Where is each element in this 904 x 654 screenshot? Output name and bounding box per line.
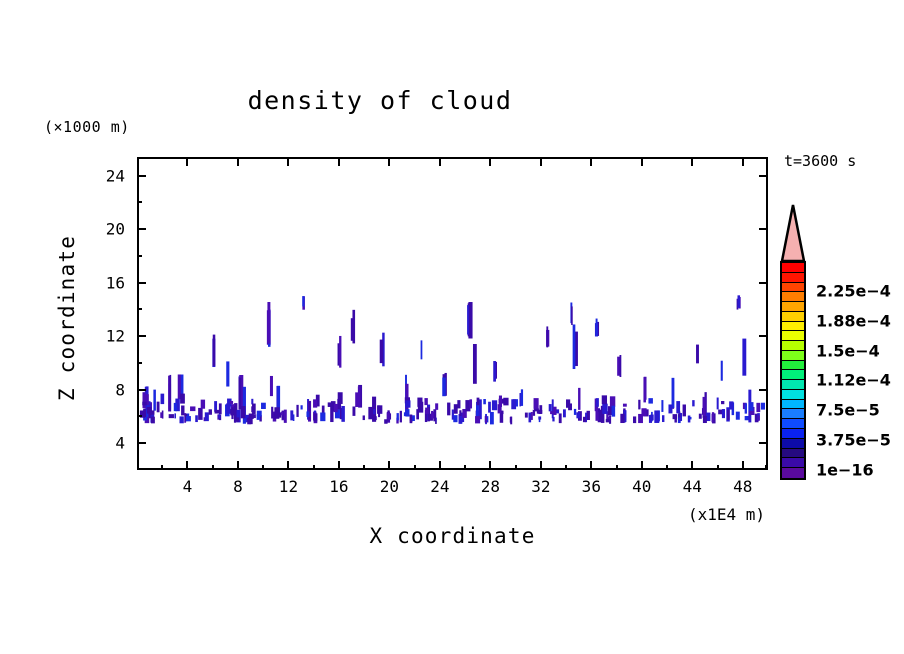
cloud-filament [235, 417, 239, 421]
cloud-filament [198, 408, 203, 420]
x-tick-major [691, 461, 693, 470]
cloud-filament [643, 377, 646, 402]
cloud-filament [717, 398, 719, 410]
cloud-filament [302, 296, 304, 306]
cloud-filament [703, 397, 706, 418]
x-tick-major-top [338, 157, 340, 166]
cloud-filament [674, 418, 676, 422]
cloud-filament [153, 390, 156, 411]
cloud-filament [209, 409, 212, 414]
cloud-filament [271, 407, 273, 419]
cloud-filament [230, 409, 235, 415]
cloud-filament [251, 399, 253, 405]
cloud-filament [510, 417, 512, 425]
cloud-filament [718, 410, 722, 415]
x-tick-minor [414, 465, 416, 470]
cloud-filament [358, 386, 361, 406]
cloud-filament [571, 306, 573, 325]
cloud-filament [549, 404, 552, 411]
cloud-filament [301, 405, 303, 409]
cloud-filament [241, 406, 246, 418]
y-tick-major-right [759, 442, 768, 444]
cloud-filament [573, 324, 576, 369]
cloud-filament [453, 415, 457, 422]
cloud-filament [406, 409, 410, 416]
x-tick-major [590, 461, 592, 470]
x-tick-major-top [439, 157, 441, 166]
cloud-filament [661, 400, 663, 412]
cloud-filament [662, 415, 664, 422]
colorbar-tick-label: 1.12e−4 [816, 371, 891, 390]
cloud-filament [598, 408, 600, 412]
x-tick-major-top [287, 157, 289, 166]
y-axis-title: Z coordinate [55, 208, 79, 428]
colorbar-overflow-arrow-icon [780, 203, 806, 263]
colorbar-band [782, 292, 804, 302]
cloud-filament [226, 403, 231, 413]
colorbar-band [782, 429, 804, 439]
cloud-filament [274, 407, 279, 417]
colorbar-band [782, 380, 804, 390]
cloud-filament [397, 413, 399, 420]
colorbar-tick-label: 3.75e−5 [816, 431, 891, 450]
cloud-filament [563, 409, 566, 417]
colorbar-tick-label: 1.5e−4 [816, 341, 880, 360]
cloud-filament [454, 404, 458, 414]
colorbar-band [782, 400, 804, 410]
cloud-filament [320, 412, 325, 421]
cloud-filament [729, 401, 733, 409]
cloud-filament [151, 410, 154, 414]
cloud-filament [313, 413, 317, 421]
colorbar-band [782, 468, 804, 478]
y-tick-major [137, 282, 146, 284]
cloud-filament [435, 403, 438, 410]
cloud-filament [431, 412, 434, 419]
cloud-filament [169, 375, 171, 412]
cloud-filament [239, 378, 242, 410]
colorbar-band [782, 449, 804, 459]
cloud-filament [459, 410, 461, 416]
cloud-filament [676, 401, 680, 413]
x-axis-unit-label: (x1E4 m) [688, 505, 765, 524]
y-tick-major-right [759, 389, 768, 391]
cloud-filament [337, 399, 341, 410]
cloud-filament [341, 406, 344, 422]
cloud-filament [738, 295, 741, 308]
x-tick-major [641, 461, 643, 470]
x-tick-major-top [489, 157, 491, 166]
y-tick-major [137, 335, 146, 337]
y-tick-minor [137, 362, 142, 364]
x-tick-label: 28 [481, 477, 500, 496]
y-tick-label: 24 [61, 166, 125, 185]
cloud-filament [742, 339, 746, 376]
y-tick-minor [137, 201, 142, 203]
y-tick-major-right [759, 335, 768, 337]
x-tick-label: 40 [632, 477, 651, 496]
cloud-filament [157, 402, 160, 413]
colorbar-tick-label: 7.5e−5 [816, 401, 880, 420]
cloud-filament [696, 345, 699, 364]
colorbar [780, 203, 806, 480]
cloud-filament [281, 412, 283, 416]
colorbar-band [782, 331, 804, 341]
x-tick-major-top [641, 157, 643, 166]
colorbar-band [782, 419, 804, 429]
cloud-filament [756, 403, 760, 412]
cloud-filament [174, 403, 177, 411]
colorbar-band [782, 283, 804, 293]
cloud-filament [745, 403, 747, 413]
cloud-filament [596, 398, 599, 407]
cloud-filament [602, 395, 607, 404]
x-tick-major-top [237, 157, 239, 166]
cloud-filament [417, 398, 422, 407]
cloud-filament [400, 411, 402, 423]
cloud-filament [534, 398, 539, 409]
cloud-filament [378, 405, 380, 417]
x-tick-minor [262, 465, 264, 470]
colorbar-band [782, 458, 804, 468]
cloud-filament [620, 355, 622, 377]
cloud-filament [550, 411, 554, 414]
cloud-filament [485, 416, 487, 424]
cloud-density-field [139, 159, 766, 468]
cloud-filament [568, 403, 572, 410]
cloud-filament [749, 402, 754, 411]
cloud-filament [412, 415, 415, 421]
cloud-filament [380, 340, 384, 364]
cloud-filament [721, 361, 723, 381]
cloud-filament [387, 412, 390, 420]
cloud-filament [201, 400, 205, 409]
cloud-filament [313, 399, 317, 407]
cloud-filament [373, 416, 377, 420]
cloud-filament [576, 412, 580, 418]
cloud-filament [488, 402, 491, 413]
cloud-filament [699, 414, 702, 419]
cloud-filament [373, 409, 375, 414]
cloud-filament [722, 409, 725, 418]
x-tick-major [287, 461, 289, 470]
cloud-filament [174, 413, 176, 418]
cloud-filament [179, 416, 183, 423]
y-tick-label: 4 [61, 434, 125, 453]
cloud-filament [533, 410, 535, 416]
cloud-filament [161, 394, 165, 404]
x-tick-major [237, 461, 239, 470]
cloud-filament [620, 414, 624, 423]
cloud-filament [230, 401, 233, 404]
cloud-filament [215, 410, 220, 414]
cloud-filament [169, 414, 174, 418]
cloud-filament [683, 404, 686, 416]
cloud-filament [672, 378, 675, 408]
cloud-filament [758, 415, 760, 421]
cloud-filament [457, 400, 460, 408]
cloud-filament [736, 412, 740, 420]
colorbar-band [782, 341, 804, 351]
x-tick-label: 8 [233, 477, 243, 496]
x-tick-label: 32 [531, 477, 550, 496]
cloud-filament [633, 416, 636, 423]
cloud-filament [531, 412, 533, 420]
y-tick-major [137, 442, 146, 444]
cloud-filament [578, 388, 580, 410]
x-tick-minor [212, 465, 214, 470]
cloud-filament [499, 396, 502, 407]
colorbar-tick-label: 1.88e−4 [816, 311, 891, 330]
cloud-filament [405, 400, 410, 407]
cloud-filament [151, 417, 155, 424]
x-tick-major-top [590, 157, 592, 166]
chart-page: density of cloud (×1000 m) t=3600 s 4812… [0, 0, 904, 654]
cloud-filament [559, 413, 562, 423]
plot-frame [137, 157, 768, 470]
cloud-filament [473, 344, 477, 384]
cloud-filament [190, 406, 195, 411]
time-annotation: t=3600 s [784, 152, 856, 170]
y-tick-major-right [759, 175, 768, 177]
x-tick-label: 16 [329, 477, 348, 496]
cloud-filament [503, 398, 508, 406]
cloud-filament [668, 404, 672, 413]
colorbar-band [782, 312, 804, 322]
cloud-filament [493, 361, 496, 381]
x-tick-minor [161, 465, 163, 470]
cloud-filament [257, 411, 262, 417]
cloud-filament [421, 340, 423, 359]
colorbar-band [782, 322, 804, 332]
cloud-filament [218, 414, 220, 418]
cloud-filament [587, 411, 590, 420]
cloud-filament [556, 409, 559, 413]
cloud-filament [654, 410, 659, 423]
cloud-filament [761, 403, 765, 410]
x-tick-major-top [691, 157, 693, 166]
cloud-filament [160, 412, 162, 418]
cloud-filament [267, 302, 270, 344]
cloud-filament [501, 411, 503, 414]
cloud-filament [692, 400, 694, 406]
x-tick-minor [666, 465, 668, 470]
cloud-filament [290, 410, 293, 420]
colorbar-band [782, 273, 804, 283]
cloud-filament [143, 409, 146, 417]
page-title: density of cloud [0, 86, 760, 115]
cloud-filament [483, 399, 486, 404]
x-tick-major-top [742, 157, 744, 166]
cloud-filament [638, 414, 643, 423]
x-tick-label: 36 [582, 477, 601, 496]
colorbar-band [782, 351, 804, 361]
cloud-filament [442, 378, 446, 397]
y-axis-unit-label: (×1000 m) [44, 118, 130, 136]
x-tick-minor [565, 465, 567, 470]
cloud-filament [525, 413, 528, 418]
cloud-filament [334, 404, 338, 412]
x-tick-minor [313, 465, 315, 470]
x-tick-minor [464, 465, 466, 470]
cloud-filament [251, 406, 253, 412]
x-tick-major [742, 461, 744, 470]
cloud-filament [492, 400, 497, 410]
x-tick-major [439, 461, 441, 470]
cloud-filament [596, 319, 598, 337]
cloud-filament [363, 415, 365, 420]
cloud-filament [205, 412, 209, 421]
cloud-filament [612, 406, 616, 417]
cloud-filament [469, 399, 472, 408]
cloud-filament [538, 416, 541, 419]
x-tick-minor [363, 465, 365, 470]
y-tick-major [137, 389, 146, 391]
cloud-filament [511, 399, 516, 409]
colorbar-band [782, 370, 804, 380]
cloud-filament [251, 414, 256, 418]
cloud-filament [475, 416, 480, 423]
cloud-filament [296, 405, 298, 417]
colorbar-band [782, 390, 804, 400]
cloud-filament [546, 326, 548, 347]
x-tick-major [489, 461, 491, 470]
cloud-filament [261, 403, 266, 409]
cloud-filament [490, 412, 494, 424]
y-tick-minor [137, 308, 142, 310]
x-tick-minor [616, 465, 618, 470]
cloud-filament [721, 401, 724, 404]
cloud-filament [574, 409, 576, 415]
y-tick-major [137, 228, 146, 230]
x-tick-minor [515, 465, 517, 470]
x-tick-label: 20 [380, 477, 399, 496]
cloud-filament [528, 413, 531, 423]
x-tick-label: 48 [733, 477, 752, 496]
x-tick-major [540, 461, 542, 470]
cloud-filament [638, 400, 640, 410]
cloud-filament [602, 404, 607, 414]
cloud-filament [142, 402, 146, 406]
cloud-filament [270, 376, 273, 396]
cloud-filament [537, 410, 542, 414]
cloud-filament [195, 415, 198, 422]
cloud-filament [181, 405, 184, 415]
x-tick-minor [717, 465, 719, 470]
y-tick-minor [137, 255, 142, 257]
x-tick-major [186, 461, 188, 470]
y-tick-major [137, 175, 146, 177]
colorbar-band [782, 361, 804, 371]
x-tick-major-top [388, 157, 390, 166]
x-tick-major-top [540, 157, 542, 166]
cloud-filament [521, 389, 523, 406]
cloud-filament [284, 410, 287, 423]
cloud-filament [690, 417, 692, 419]
colorbar-band [782, 439, 804, 449]
colorbar-tick-label: 2.25e−4 [816, 281, 891, 300]
cloud-filament [384, 419, 387, 423]
cloud-filament [213, 335, 216, 366]
cloud-filament [352, 406, 355, 415]
cloud-filament [447, 403, 450, 416]
x-axis-title: X coordinate [137, 524, 768, 548]
y-tick-major-right [759, 282, 768, 284]
cloud-filament [727, 410, 730, 420]
cloud-filament [649, 415, 652, 423]
cloud-filament [467, 305, 469, 334]
x-tick-major [388, 461, 390, 470]
cloud-filament [306, 411, 309, 417]
colorbar-bands [780, 261, 806, 480]
cloud-filament [351, 318, 355, 341]
cloud-filament [226, 361, 229, 386]
cloud-filament [424, 398, 427, 405]
cloud-filament [703, 416, 707, 423]
cloud-filament [712, 412, 714, 420]
x-tick-major-top [186, 157, 188, 166]
x-tick-minor [765, 465, 767, 470]
cloud-filament [610, 396, 615, 406]
cloud-filament [368, 407, 372, 419]
colorbar-tick-label: 1e−16 [816, 461, 874, 480]
colorbar-band [782, 409, 804, 419]
x-tick-label: 12 [279, 477, 298, 496]
cloud-filament [425, 408, 429, 414]
colorbar-band [782, 263, 804, 273]
colorbar-band [782, 302, 804, 312]
cloud-filament [186, 416, 191, 421]
cloud-filament [583, 417, 586, 422]
y-tick-major-right [759, 228, 768, 230]
x-tick-label: 44 [683, 477, 702, 496]
cloud-filament [552, 417, 554, 422]
cloud-filament [648, 398, 652, 403]
cloud-filament [623, 404, 627, 407]
y-tick-minor [137, 415, 142, 417]
cloud-filament [606, 419, 611, 422]
cloud-filament [328, 402, 333, 407]
x-tick-label: 4 [183, 477, 193, 496]
colorbar-cap-triangle [782, 205, 804, 261]
cloud-filament [339, 336, 341, 368]
cloud-filament [180, 394, 185, 404]
x-tick-label: 24 [430, 477, 449, 496]
cloud-filament [477, 398, 480, 406]
x-tick-major [338, 461, 340, 470]
